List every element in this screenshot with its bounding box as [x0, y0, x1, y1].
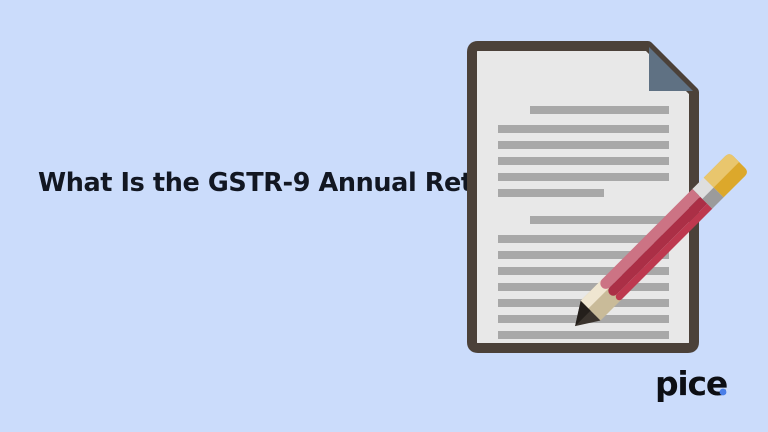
page-title: What Is the GSTR-9 Annual Return?: [38, 168, 458, 198]
text-line: [498, 189, 604, 197]
brand-logo[interactable]: pice: [655, 362, 755, 408]
text-line: [530, 216, 669, 224]
text-line: [530, 106, 669, 114]
text-line: [498, 173, 669, 181]
promo-banner: What Is the GSTR-9 Annual Return?: [0, 0, 768, 432]
brand-dot-icon: [720, 389, 727, 396]
text-line: [498, 125, 669, 133]
text-line: [498, 157, 669, 165]
brand-wordmark: pice: [655, 364, 727, 403]
text-line: [498, 283, 669, 291]
text-line: [498, 141, 669, 149]
document-with-pencil-illustration: [450, 26, 720, 366]
text-line: [498, 331, 669, 339]
